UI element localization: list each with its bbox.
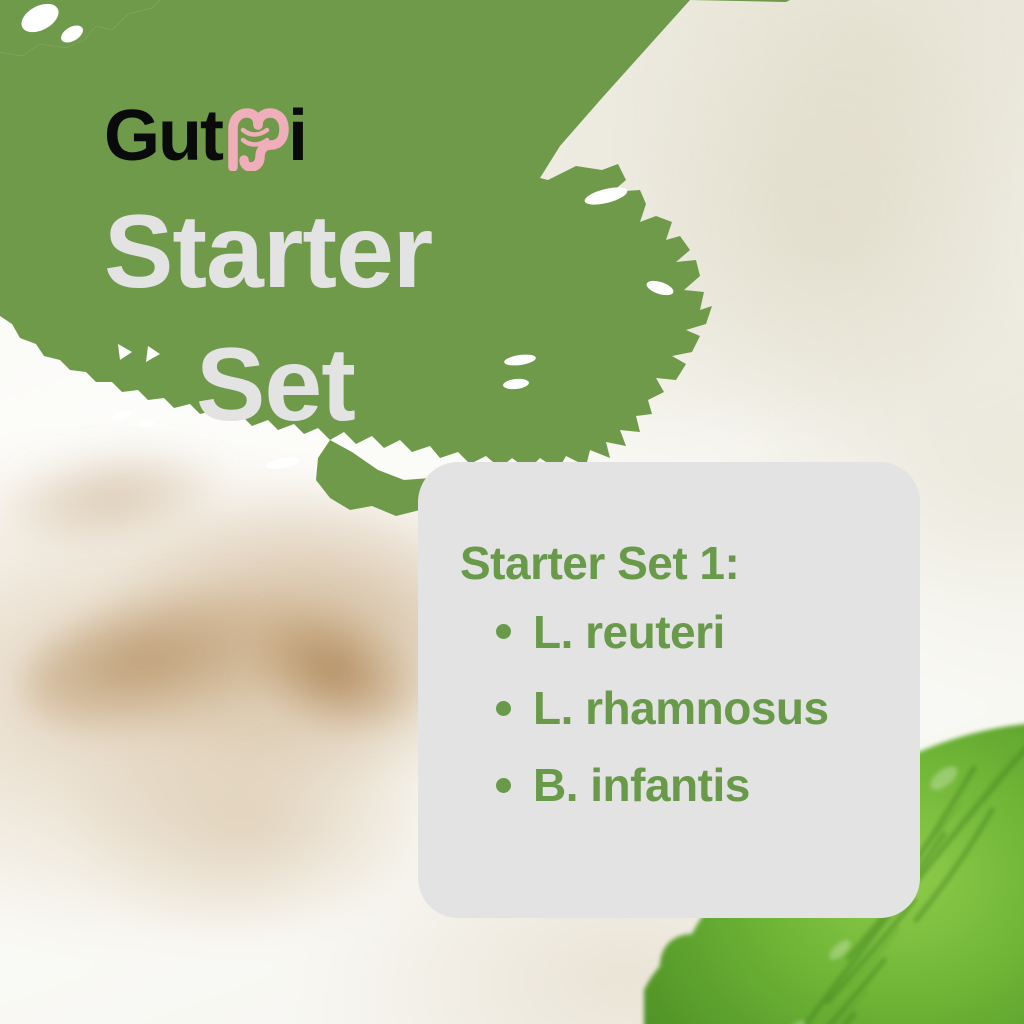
- hero-line-starter: Starter: [0, 186, 470, 319]
- bullet-icon: [496, 778, 511, 793]
- page-title: Starter Set: [0, 186, 470, 452]
- hero-line-set: Set: [0, 319, 470, 452]
- starter-set-card: Starter Set 1: L. reuteri L. rhamnosus B…: [418, 462, 920, 918]
- intestine-icon: [223, 105, 289, 171]
- strain-list: L. reuteri L. rhamnosus B. infantis: [446, 607, 880, 811]
- poster-canvas: Gut i Starter Set Starter Set 1:: [0, 0, 1024, 1024]
- card-title: Starter Set 1:: [460, 538, 880, 589]
- list-item: B. infantis: [496, 760, 880, 811]
- logo-text-i: i: [288, 100, 306, 172]
- list-item-label: B. infantis: [533, 760, 750, 811]
- bullet-icon: [496, 701, 511, 716]
- list-item-label: L. reuteri: [533, 607, 725, 658]
- list-item-label: L. rhamnosus: [533, 683, 829, 734]
- list-item: L. reuteri: [496, 607, 880, 658]
- brand-logo[interactable]: Gut i: [104, 96, 306, 176]
- bullet-icon: [496, 624, 511, 639]
- logo-text-gut: Gut: [104, 100, 222, 172]
- list-item: L. rhamnosus: [496, 683, 880, 734]
